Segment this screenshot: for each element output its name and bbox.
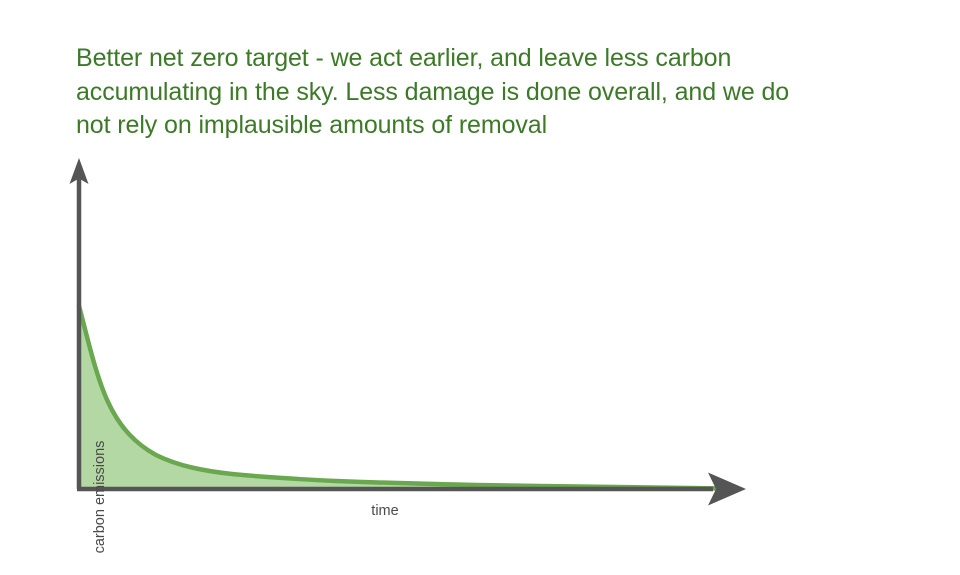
y-axis-label: carbon emissions — [90, 419, 110, 575]
chart-svg — [0, 0, 960, 540]
slide-canvas: Better net zero target - we act earlier,… — [0, 0, 960, 540]
emissions-chart: carbon emissions time — [0, 0, 960, 540]
emissions-curve-line — [79, 306, 726, 489]
x-axis-label: time — [325, 503, 445, 519]
